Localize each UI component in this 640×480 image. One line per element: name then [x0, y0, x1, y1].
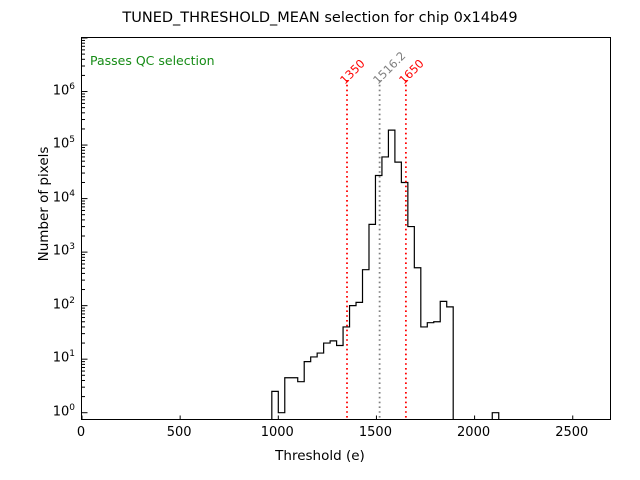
histogram-step-line: [272, 130, 499, 420]
y-axis-label: Number of pixels: [36, 74, 52, 334]
x-tick-label-1000: 1000: [247, 425, 307, 440]
histogram-svg: [82, 38, 611, 420]
axis-ticks-inner: [82, 38, 573, 420]
x-tick-label-2000: 2000: [444, 425, 504, 440]
x-tick-label-1500: 1500: [345, 425, 405, 440]
x-tick-label-500: 500: [149, 425, 209, 440]
qc-status-note: Passes QC selection: [90, 53, 215, 68]
page-title: TUNED_THRESHOLD_MEAN selection for chip …: [0, 10, 640, 26]
y-tick-label-1e1: 101: [29, 351, 75, 366]
vertical-cut-lines: [347, 80, 406, 420]
x-tick-label-2500: 2500: [542, 425, 602, 440]
plot-area: [81, 37, 611, 420]
x-tick-label-0: 0: [51, 425, 111, 440]
y-tick-label-1e0: 100: [29, 404, 75, 419]
x-axis-label: Threshold (e): [0, 448, 640, 464]
histogram-figure: TUNED_THRESHOLD_MEAN selection for chip …: [0, 0, 640, 480]
histogram-outline: [272, 130, 499, 420]
